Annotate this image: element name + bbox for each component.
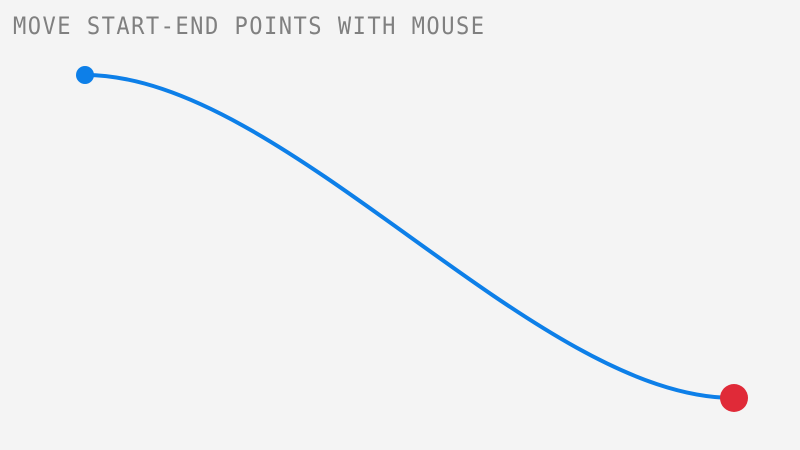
bezier-curve: [85, 75, 734, 398]
end-point-handle[interactable]: [720, 384, 748, 412]
curve-canvas[interactable]: [0, 0, 800, 450]
canvas-stage: MOVE START-END POINTS WITH MOUSE: [0, 0, 800, 450]
start-point-handle[interactable]: [76, 66, 94, 84]
